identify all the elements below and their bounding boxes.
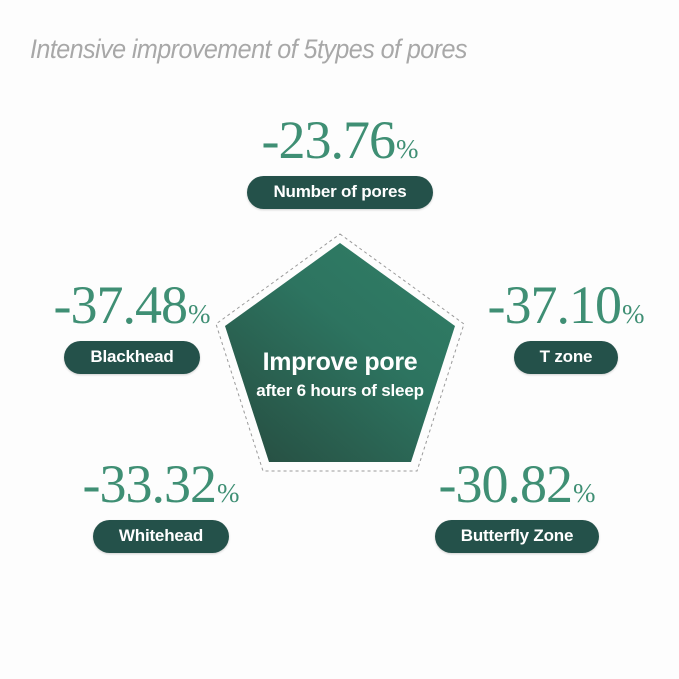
page-title: Intensive improvement of 5types of pores	[30, 34, 607, 65]
percent-sign: %	[573, 480, 596, 506]
stat-value-number-of-pores: -23.76%	[262, 114, 419, 167]
center-pentagon: Improve pore after 6 hours of sleep	[213, 231, 467, 475]
stat-number: -37.10	[488, 279, 621, 332]
stat-value-blackhead: -37.48%	[54, 279, 211, 332]
stat-number: -37.48	[54, 279, 187, 332]
stat-label-pill-butterfly-zone[interactable]: Butterfly Zone	[435, 520, 599, 553]
stat-number: -23.76	[262, 114, 395, 167]
stat-number: -33.32	[83, 458, 216, 511]
percent-sign: %	[622, 301, 645, 327]
infographic-canvas: Intensive improvement of 5types of pores…	[0, 0, 679, 679]
stat-value-t-zone: -37.10%	[488, 279, 645, 332]
pentagon-filled-shape-icon	[213, 231, 467, 475]
stat-label-pill-t-zone[interactable]: T zone	[514, 341, 619, 374]
stat-group-number-of-pores: -23.76% Number of pores	[200, 114, 480, 209]
stat-label-pill-blackhead[interactable]: Blackhead	[64, 341, 199, 374]
stat-label-pill-number-of-pores[interactable]: Number of pores	[247, 176, 432, 209]
percent-sign: %	[188, 301, 211, 327]
percent-sign: %	[396, 136, 419, 162]
percent-sign: %	[217, 480, 240, 506]
stat-label-pill-whitehead[interactable]: Whitehead	[93, 520, 229, 553]
